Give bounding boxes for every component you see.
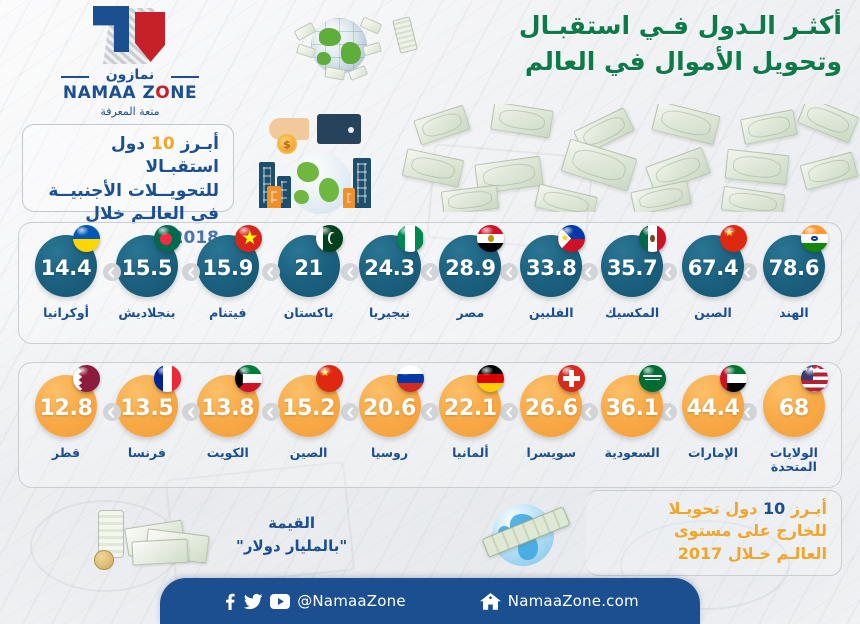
subtitle-highlight-number: 10: [151, 134, 175, 154]
country-label: الفلبين: [518, 306, 584, 320]
facebook-icon[interactable]: [221, 593, 237, 610]
value-note-line1: القيمة: [236, 512, 347, 535]
flag-kuwait-icon: [235, 365, 262, 392]
chevron-left-icon: [421, 403, 439, 421]
value-label: 22.1: [444, 396, 497, 421]
inbound-remittances-row: 78.6الهند67.4★الصين35.7المكسيك33.8★الفلب…: [18, 222, 842, 344]
country-item[interactable]: 20.6روسيا: [357, 375, 423, 460]
country-item[interactable]: 15.2★الصين: [276, 375, 342, 460]
chevron-left-icon: [341, 403, 359, 421]
country-label: روسيا: [357, 446, 423, 460]
br-highlight-number: 10: [763, 499, 785, 518]
city-globe-wallet-icon: [255, 112, 385, 216]
subtitle-box-2018: أبـرز 10 دول استقبـالا للتحويــلات الأجن…: [22, 124, 234, 212]
subtitle-line2: للتحويــلات الأجنبيــة: [33, 180, 219, 203]
flag-switzerland-icon: [558, 365, 585, 392]
page-title-line1: أكثـر الـدول فـي استقبـال: [392, 8, 842, 44]
chevron-left-icon: [103, 403, 121, 421]
chevron-left-icon: [262, 403, 280, 421]
value-bubble[interactable]: 21: [278, 235, 340, 297]
value-label: 68: [779, 396, 809, 421]
value-label: 15.2: [282, 396, 335, 421]
logo-english-text: NAMAA ZONE: [55, 83, 205, 104]
footer-bar: @NamaaZone NamaaZone.com: [160, 578, 700, 624]
value-bubble[interactable]: 28.9: [439, 235, 501, 297]
value-unit-note: القيمة "بالمليار دولار": [236, 512, 347, 559]
country-item[interactable]: 13.5فرنسا: [114, 375, 180, 460]
subtitle-seg1: أبـرز: [175, 134, 219, 154]
cash-pile-icon: [92, 506, 222, 572]
value-label: 78.6: [769, 256, 820, 280]
flag-russia-icon: [397, 365, 424, 392]
country-label: أوكرانيا: [33, 306, 99, 320]
subtitle-box-2017: أبـرز 10 دول تحويـلا للخارج على مستوى ال…: [586, 490, 842, 576]
country-item[interactable]: 14.4أوكرانيا: [33, 235, 99, 320]
value-label: 35.7: [607, 256, 658, 280]
flag-china-icon: ★: [316, 365, 343, 392]
page-title: أكثـر الـدول فـي استقبـال وتحويل الأموال…: [392, 8, 842, 79]
br-line3: العالـم خـلال 2017: [594, 543, 827, 565]
country-label: الصين: [680, 306, 746, 320]
value-bubble[interactable]: 33.8★: [520, 235, 582, 297]
country-label: نيجيريا: [357, 306, 423, 320]
home-icon[interactable]: [480, 592, 501, 611]
value-bubble[interactable]: 15.9★: [197, 235, 259, 297]
chevron-left-icon: [262, 263, 280, 281]
country-label: بنجلاديش: [114, 306, 180, 320]
country-item[interactable]: 44.4الإمارات: [680, 375, 746, 460]
country-item[interactable]: 21باكستان: [276, 235, 342, 320]
country-item[interactable]: 15.9★فيتنام: [195, 235, 261, 320]
value-label: 44.4: [686, 396, 739, 421]
youtube-icon[interactable]: [270, 594, 290, 609]
value-label: 28.9: [445, 256, 496, 280]
value-label: 13.5: [120, 396, 173, 421]
flag-ukraine-icon: [73, 225, 100, 252]
br-seg1: أبـرز: [785, 499, 827, 518]
flag-china-icon: ★: [720, 225, 747, 252]
logo-tagline: متعة المعرفة: [55, 105, 205, 119]
logo-arabic-text: نمازون: [55, 68, 205, 83]
subtitle-line1: أبـرز 10 دول استقبـالا: [33, 133, 219, 180]
globe-with-banknotes-icon: [295, 10, 381, 90]
value-bubble[interactable]: 14.4: [35, 235, 97, 297]
value-label: 33.8: [526, 256, 577, 280]
value-note-line2: "بالمليار دولار": [236, 535, 347, 558]
flag-egypt-icon: [477, 225, 504, 252]
value-bubble[interactable]: 78.6: [763, 235, 825, 297]
country-item[interactable]: 28.9مصر: [437, 235, 503, 320]
value-bubble[interactable]: 20.6: [359, 375, 421, 437]
country-label: ألمانيا: [437, 446, 503, 460]
country-item[interactable]: 22.1ألمانيا: [437, 375, 503, 460]
br-line2: للخارج على مستوى: [594, 520, 827, 542]
brand-logo[interactable]: نمازون NAMAA ZONE متعة المعرفة: [55, 6, 205, 114]
flag-usa-icon: ★★★: [801, 365, 828, 392]
country-label: باكستان: [276, 306, 342, 320]
value-bubble[interactable]: 26.6: [520, 375, 582, 437]
value-bubble[interactable]: 67.4★: [682, 235, 744, 297]
country-label: الهند: [761, 306, 827, 320]
falling-money-photo: [396, 104, 860, 212]
value-label: 26.6: [525, 396, 578, 421]
value-bubble[interactable]: 24.3: [359, 235, 421, 297]
value-label: 12.8: [39, 396, 92, 421]
social-group[interactable]: @NamaaZone: [221, 592, 406, 610]
country-label: الكويت: [195, 446, 261, 460]
br-line1: أبـرز 10 دول تحويـلا: [594, 498, 827, 520]
namaa-zone-logo-mark: [93, 6, 167, 66]
country-item[interactable]: 33.8★الفلبين: [518, 235, 584, 320]
country-item[interactable]: 36.1السعودية: [599, 375, 665, 460]
chevron-left-icon: [182, 263, 200, 281]
country-item[interactable]: 26.6سويسرا: [518, 375, 584, 460]
flag-qatar-icon: [73, 365, 100, 392]
country-bubble-list: 78.6الهند67.4★الصين35.7المكسيك33.8★الفلب…: [19, 223, 841, 343]
logo-en-part2: NE: [170, 83, 197, 103]
country-item[interactable]: 35.7المكسيك: [599, 235, 665, 320]
chevron-left-icon: [182, 403, 200, 421]
flag-mexico-icon: [639, 225, 666, 252]
br-seg2: دول تحويـلا: [669, 499, 763, 518]
country-label: مصر: [437, 306, 503, 320]
outbound-remittances-row: 68★★★الولايات المتحدة44.4الإمارات36.1الس…: [18, 362, 842, 488]
country-item[interactable]: 12.8قطر: [33, 375, 99, 460]
flag-bangladesh-icon: [154, 225, 181, 252]
website-url[interactable]: NamaaZone.com: [508, 592, 639, 610]
country-label: الصين: [276, 446, 342, 460]
header: نمازون NAMAA ZONE متعة المعرفة أكثـر الـ…: [0, 0, 860, 218]
flag-uae-icon: [720, 365, 747, 392]
country-label: السعودية: [599, 446, 665, 460]
value-label: 24.3: [364, 256, 415, 280]
value-bubble[interactable]: 15.5: [116, 235, 178, 297]
logo-en-part1: NAMAA Z: [63, 83, 155, 103]
value-bubble[interactable]: 12.8: [35, 375, 97, 437]
country-label: سويسرا: [518, 446, 584, 460]
value-label: 15.9: [202, 256, 253, 280]
twitter-icon[interactable]: [244, 593, 263, 610]
value-bubble[interactable]: 35.7: [601, 235, 663, 297]
country-item[interactable]: 13.8الكويت: [195, 375, 261, 460]
flag-nigeria-icon: [397, 225, 424, 252]
globe-with-money-belt-icon: [484, 496, 568, 574]
value-bubble[interactable]: 36.1: [601, 375, 663, 437]
value-label: 14.4: [41, 256, 92, 280]
flag-saudi-arabia-icon: [639, 365, 666, 392]
value-label: 20.6: [363, 396, 416, 421]
flag-germany-icon: [477, 365, 504, 392]
chevron-left-icon: [103, 263, 121, 281]
flag-vietnam-icon: ★: [235, 225, 262, 252]
country-item[interactable]: 78.6الهند: [761, 235, 827, 320]
value-label: 21: [294, 256, 323, 280]
country-item[interactable]: 67.4★الصين: [680, 235, 746, 320]
country-label: قطر: [33, 446, 99, 460]
country-bubble-list: 68★★★الولايات المتحدة44.4الإمارات36.1الس…: [19, 363, 841, 487]
logo-en-o: O: [155, 83, 170, 103]
value-bubble[interactable]: 68★★★: [763, 375, 825, 437]
flag-pakistan-icon: [316, 225, 343, 252]
value-bubble[interactable]: 13.5: [116, 375, 178, 437]
value-label: 36.1: [606, 396, 659, 421]
country-label: الإمارات: [680, 446, 746, 460]
country-label: فيتنام: [195, 306, 261, 320]
chevron-left-icon: [421, 263, 439, 281]
social-handle[interactable]: @NamaaZone: [297, 592, 406, 610]
value-bubble[interactable]: 44.4: [682, 375, 744, 437]
flag-philippines-icon: ★: [558, 225, 585, 252]
value-bubble[interactable]: 15.2★: [278, 375, 340, 437]
value-bubble[interactable]: 13.8: [197, 375, 259, 437]
page-title-line2: وتحويل الأموال في العالم: [392, 44, 842, 80]
flag-india-icon: [801, 225, 828, 252]
value-label: 67.4: [688, 256, 739, 280]
value-bubble[interactable]: 22.1: [439, 375, 501, 437]
infographic-canvas: نمازون NAMAA ZONE متعة المعرفة أكثـر الـ…: [0, 0, 860, 624]
country-label: المكسيك: [599, 306, 665, 320]
country-item[interactable]: 15.5بنجلاديش: [114, 235, 180, 320]
country-item[interactable]: 68★★★الولايات المتحدة: [761, 375, 827, 475]
flag-france-icon: [154, 365, 181, 392]
country-label: فرنسا: [114, 446, 180, 460]
value-label: 15.5: [122, 256, 173, 280]
value-label: 13.8: [201, 396, 254, 421]
country-label: الولايات المتحدة: [761, 446, 827, 475]
country-item[interactable]: 24.3نيجيريا: [357, 235, 423, 320]
chevron-left-icon: [341, 263, 359, 281]
website-group[interactable]: NamaaZone.com: [480, 592, 639, 611]
